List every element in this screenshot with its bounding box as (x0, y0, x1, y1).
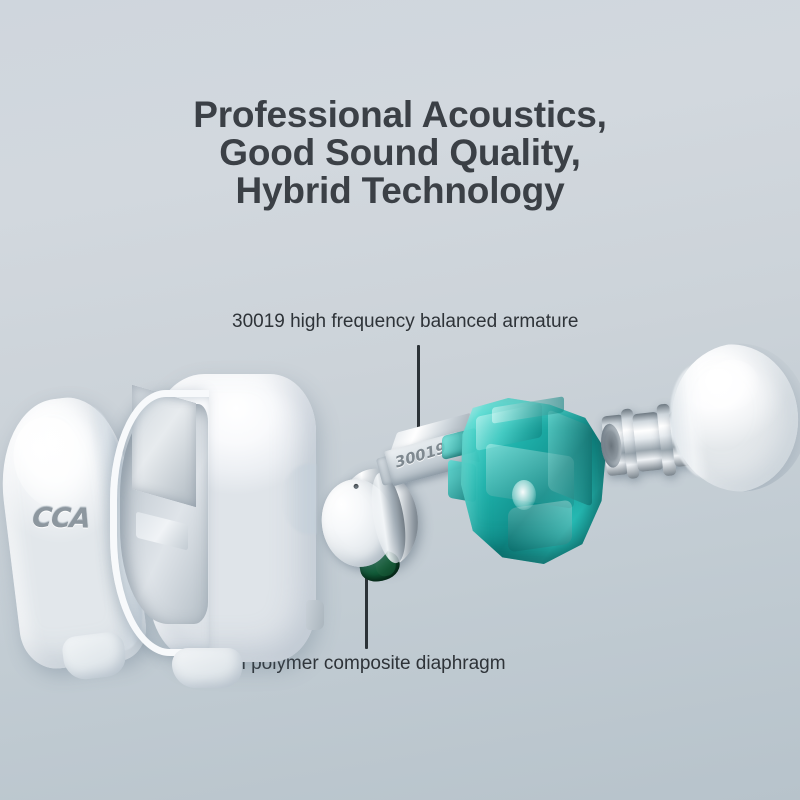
crystal-specular-highlight (512, 480, 536, 510)
headline-line-3: Hybrid Technology (0, 172, 800, 210)
product-marketing-image: Professional Acoustics, Good Sound Quali… (0, 0, 800, 800)
callout-label-balanced-armature: 30019 high frequency balanced armature (232, 311, 578, 333)
inner-shell-lip (110, 390, 209, 656)
headline-line-1: Professional Acoustics, (0, 96, 800, 134)
acoustic-cavity-crystal (452, 388, 612, 570)
cca-brand-logo: CCA (31, 503, 91, 535)
leader-line-dynamic-driver (365, 569, 368, 649)
headline-line-2: Good Sound Quality, (0, 134, 800, 172)
silicone-eartip (666, 339, 800, 497)
inner-shell-foot (172, 648, 242, 688)
inner-shell-nub (306, 600, 324, 630)
page-title: Professional Acoustics, Good Sound Quali… (0, 96, 800, 210)
leader-line-balanced-armature (417, 345, 420, 433)
earphone-inner-shell (110, 368, 320, 670)
